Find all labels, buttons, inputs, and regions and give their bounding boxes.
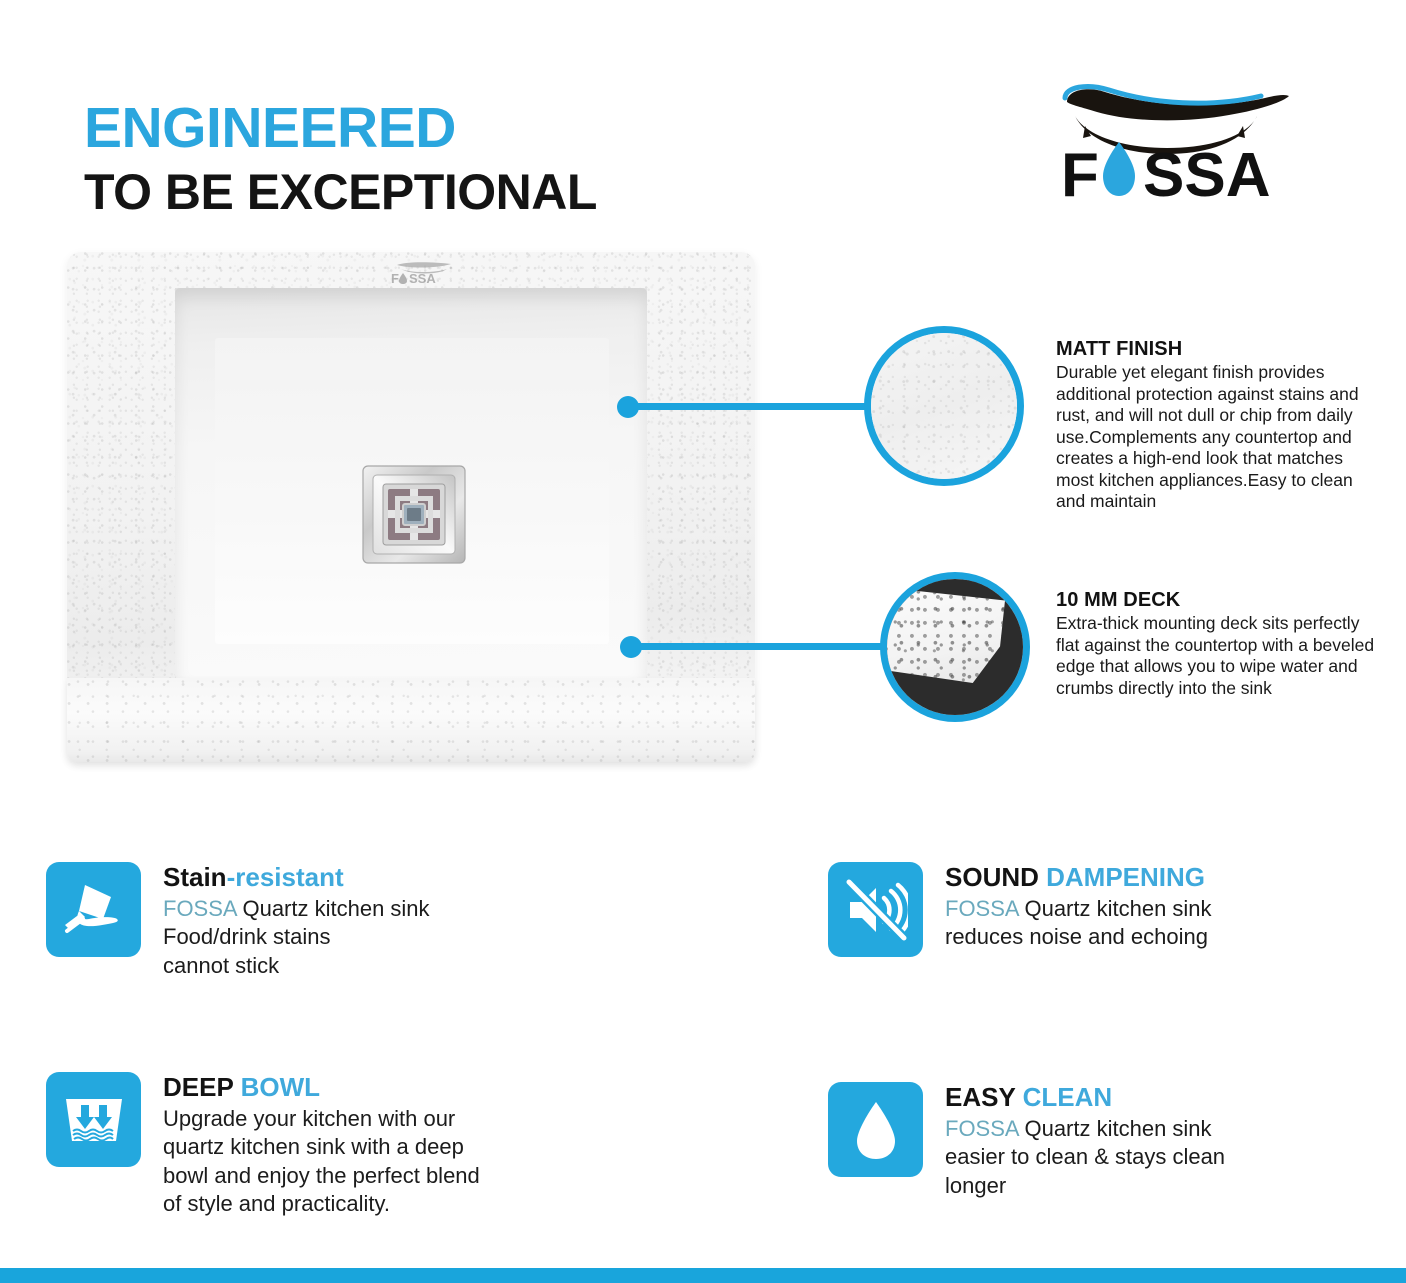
feature-body-rest-easy: Quartz kitchen sink [1018, 1116, 1211, 1141]
feature-text-deep-bowl: DEEP BOWL Upgrade your kitchen with our … [163, 1072, 480, 1218]
matt-surface-texture [871, 333, 1017, 479]
drain-strainer-icon [359, 462, 469, 567]
feature-body-line-brand: FOSSA Quartz kitchen sink [163, 895, 430, 923]
feature-body-line: Upgrade your kitchen with our [163, 1105, 480, 1133]
feature-title-dark-easy: EASY [945, 1082, 1015, 1112]
feature-title-sound-dampening: SOUND DAMPENING [945, 864, 1212, 891]
feature-text-stain-resistant: Stain-resistant FOSSA Quartz kitchen sin… [163, 862, 430, 980]
feature-title-blue-deep: BOWL [233, 1072, 320, 1102]
feature-title-deep-bowl: DEEP BOWL [163, 1074, 480, 1101]
feature-title-dark-sound: SOUND [945, 862, 1039, 892]
feature-title-blue-easy: CLEAN [1015, 1082, 1112, 1112]
feature-body-stain-resistant: FOSSA Quartz kitchen sink Food/drink sta… [163, 895, 430, 979]
headline-line-2: TO BE EXCEPTIONAL [84, 167, 597, 217]
callout-zoom-circle-matt-finish [864, 326, 1024, 486]
headline-line-1: ENGINEERED [84, 100, 597, 157]
svg-text:F: F [1061, 141, 1099, 208]
feature-title-dark-stain: Stain [163, 862, 227, 892]
infographic-page: ENGINEERED TO BE EXCEPTIONAL F SSA [0, 0, 1406, 1283]
feature-title-easy-clean: EASY CLEAN [945, 1084, 1225, 1111]
feature-body-line: cannot stick [163, 952, 430, 980]
svg-text:F: F [391, 271, 399, 285]
callout-text-10mm-deck: 10 MM DECK Extra-thick mounting deck sit… [1056, 589, 1376, 699]
feature-title-dark-deep: DEEP [163, 1072, 233, 1102]
feature-title-stain-resistant: Stain-resistant [163, 864, 430, 891]
callout-body-matt-finish: Durable yet elegant finish provides addi… [1056, 362, 1376, 513]
muted-speaker-icon [828, 862, 923, 957]
feature-body-deep-bowl: Upgrade your kitchen with our quartz kit… [163, 1105, 480, 1218]
feature-body-line: longer [945, 1172, 1225, 1200]
feature-text-sound-dampening: SOUND DAMPENING FOSSA Quartz kitchen sin… [945, 862, 1212, 952]
feature-body-line: Food/drink stains [163, 923, 430, 951]
feature-body-line-brand: FOSSA Quartz kitchen sink [945, 895, 1212, 923]
feature-body-sound-dampening: FOSSA Quartz kitchen sink reduces noise … [945, 895, 1212, 951]
brand-word-stain: FOSSA [163, 896, 236, 921]
water-drop-icon [828, 1082, 923, 1177]
brand-word-easy: FOSSA [945, 1116, 1018, 1141]
feature-stain-resistant: Stain-resistant FOSSA Quartz kitchen sin… [46, 862, 430, 980]
fossa-logo: F SSA [1053, 78, 1303, 208]
feature-title-blue-stain: -resistant [227, 862, 344, 892]
feature-sound-dampening: SOUND DAMPENING FOSSA Quartz kitchen sin… [828, 862, 1212, 957]
product-image-sink: F SSA [62, 248, 762, 783]
feature-body-line: easier to clean & stays clean [945, 1143, 1225, 1171]
feature-text-easy-clean: EASY CLEAN FOSSA Quartz kitchen sink eas… [945, 1082, 1225, 1200]
feature-body-rest-stain: Quartz kitchen sink [236, 896, 429, 921]
brand-word-sound: FOSSA [945, 896, 1018, 921]
svg-text:SSA: SSA [1143, 141, 1270, 208]
feature-deep-bowl: DEEP BOWL Upgrade your kitchen with our … [46, 1072, 480, 1218]
feature-body-line: of style and practicality. [163, 1190, 480, 1218]
callout-text-matt-finish: MATT FINISH Durable yet elegant finish p… [1056, 338, 1376, 513]
feature-body-rest-sound: Quartz kitchen sink [1018, 896, 1211, 921]
callout-line-10mm-deck [635, 643, 887, 650]
feature-body-line: quartz kitchen sink with a deep [163, 1133, 480, 1161]
deep-basin-arrows-icon [46, 1072, 141, 1167]
feature-body-line: bowl and enjoy the perfect blend [163, 1162, 480, 1190]
page-title: ENGINEERED TO BE EXCEPTIONAL [84, 100, 597, 217]
callout-body-10mm-deck: Extra-thick mounting deck sits perfectly… [1056, 613, 1376, 699]
callout-line-matt-finish [632, 403, 870, 410]
feature-title-blue-sound: DAMPENING [1039, 862, 1205, 892]
sink-embossed-logo: F SSA [385, 259, 465, 285]
sink-front-deck [67, 678, 755, 762]
callout-title-matt-finish: MATT FINISH [1056, 338, 1376, 361]
footer-accent-bar [0, 1268, 1406, 1283]
svg-text:SSA: SSA [409, 271, 436, 285]
wiping-cloth-icon [46, 862, 141, 957]
callout-title-10mm-deck: 10 MM DECK [1056, 589, 1376, 612]
feature-body-easy-clean: FOSSA Quartz kitchen sink easier to clea… [945, 1115, 1225, 1199]
feature-easy-clean: EASY CLEAN FOSSA Quartz kitchen sink eas… [828, 1082, 1225, 1200]
callout-zoom-circle-10mm-deck [880, 572, 1030, 722]
feature-body-line: reduces noise and echoing [945, 923, 1212, 951]
feature-body-line-brand: FOSSA Quartz kitchen sink [945, 1115, 1225, 1143]
